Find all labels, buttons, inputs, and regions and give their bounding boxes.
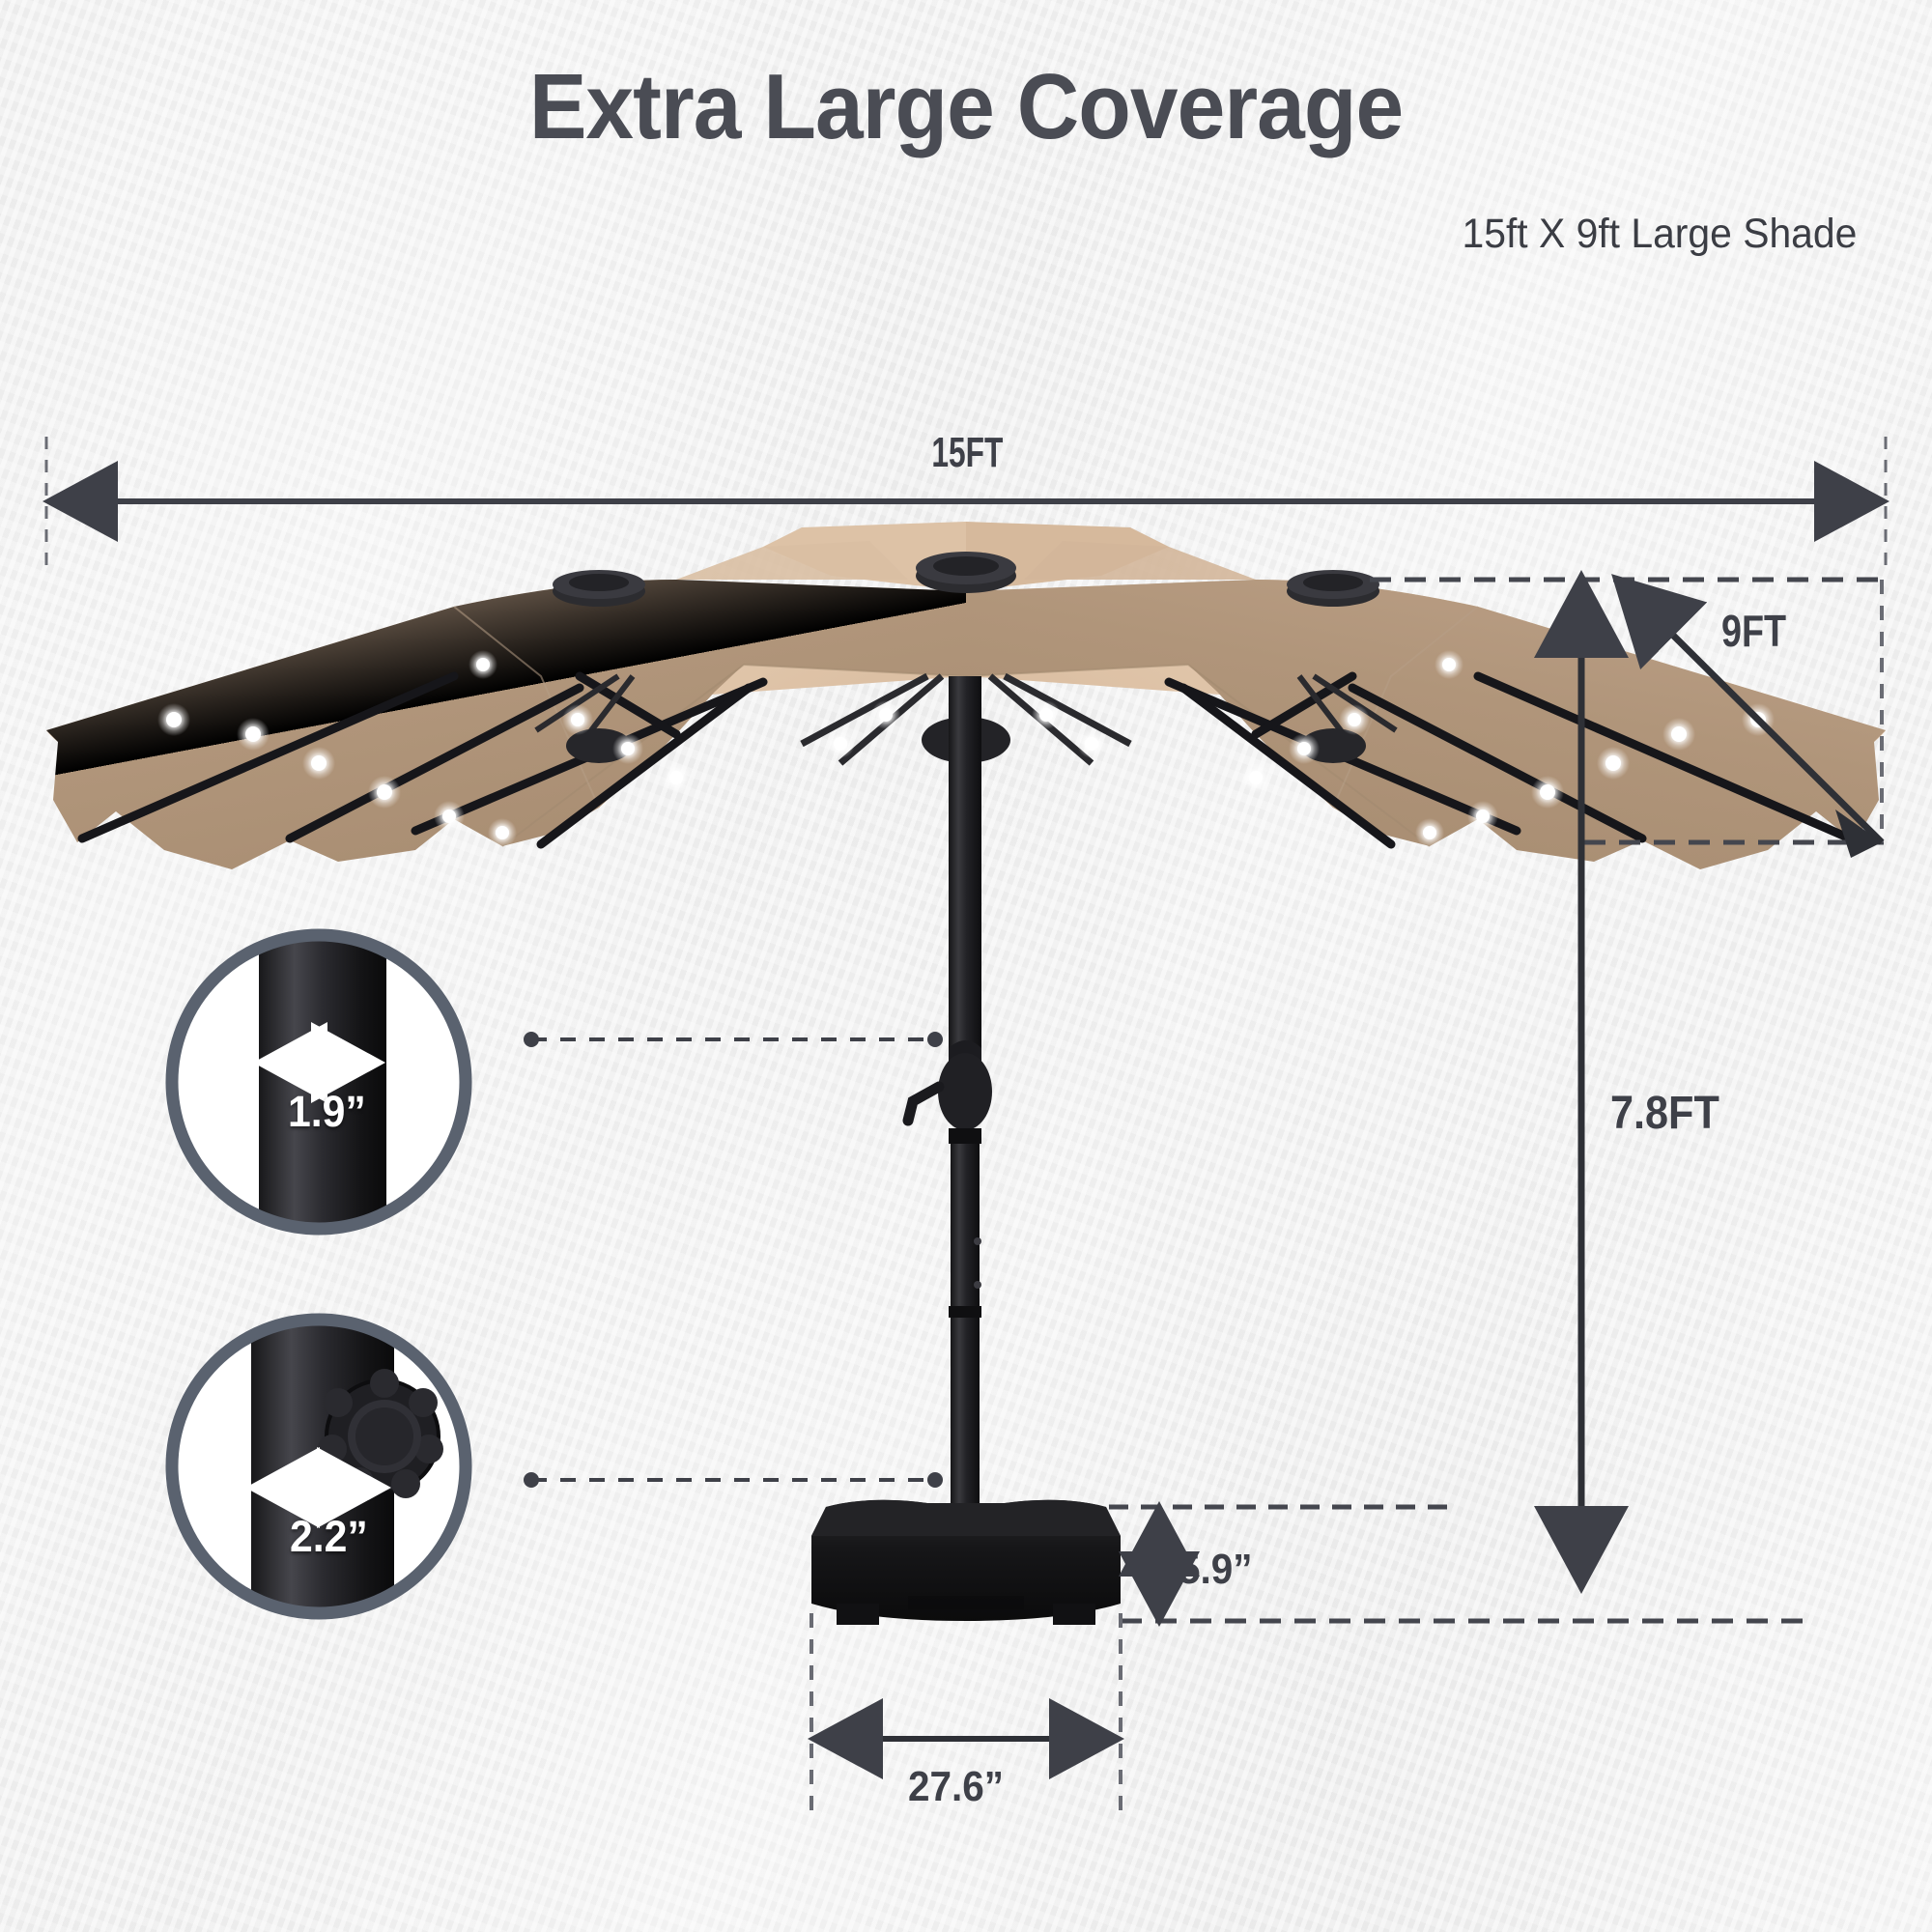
umbrella-pole [908, 676, 992, 1515]
page-subtitle: 15ft X 9ft Large Shade [1462, 211, 1857, 258]
page-title: Extra Large Coverage [68, 54, 1864, 160]
callout-lower-pole-diameter [172, 1312, 466, 1631]
callout-value-lower-pole-diameter: 2.2” [290, 1512, 368, 1562]
umbrella-base [811, 1500, 1121, 1625]
crank-handle [908, 1087, 939, 1121]
dimension-label-base-width: 27.6” [908, 1763, 1004, 1811]
crank-housing [938, 1053, 992, 1130]
canopy-vent-right-outer [1024, 541, 1256, 580]
dimension-label-depth: 9FT [1721, 605, 1786, 657]
product-illustration [0, 0, 1932, 1932]
callout-value-pole-diameter: 1.9” [288, 1087, 366, 1137]
dimension-label-base-height: 5.9” [1179, 1546, 1253, 1594]
leader-line-1 [524, 1032, 943, 1047]
leader-line-2 [524, 1472, 943, 1488]
infographic-canvas: Extra Large Coverage 15ft X 9ft Large Sh… [0, 0, 1932, 1932]
dimension-label-height: 7.8FT [1610, 1087, 1719, 1140]
canopy-vent-left-outer [676, 541, 908, 580]
dimension-label-width: 15FT [931, 429, 1003, 477]
